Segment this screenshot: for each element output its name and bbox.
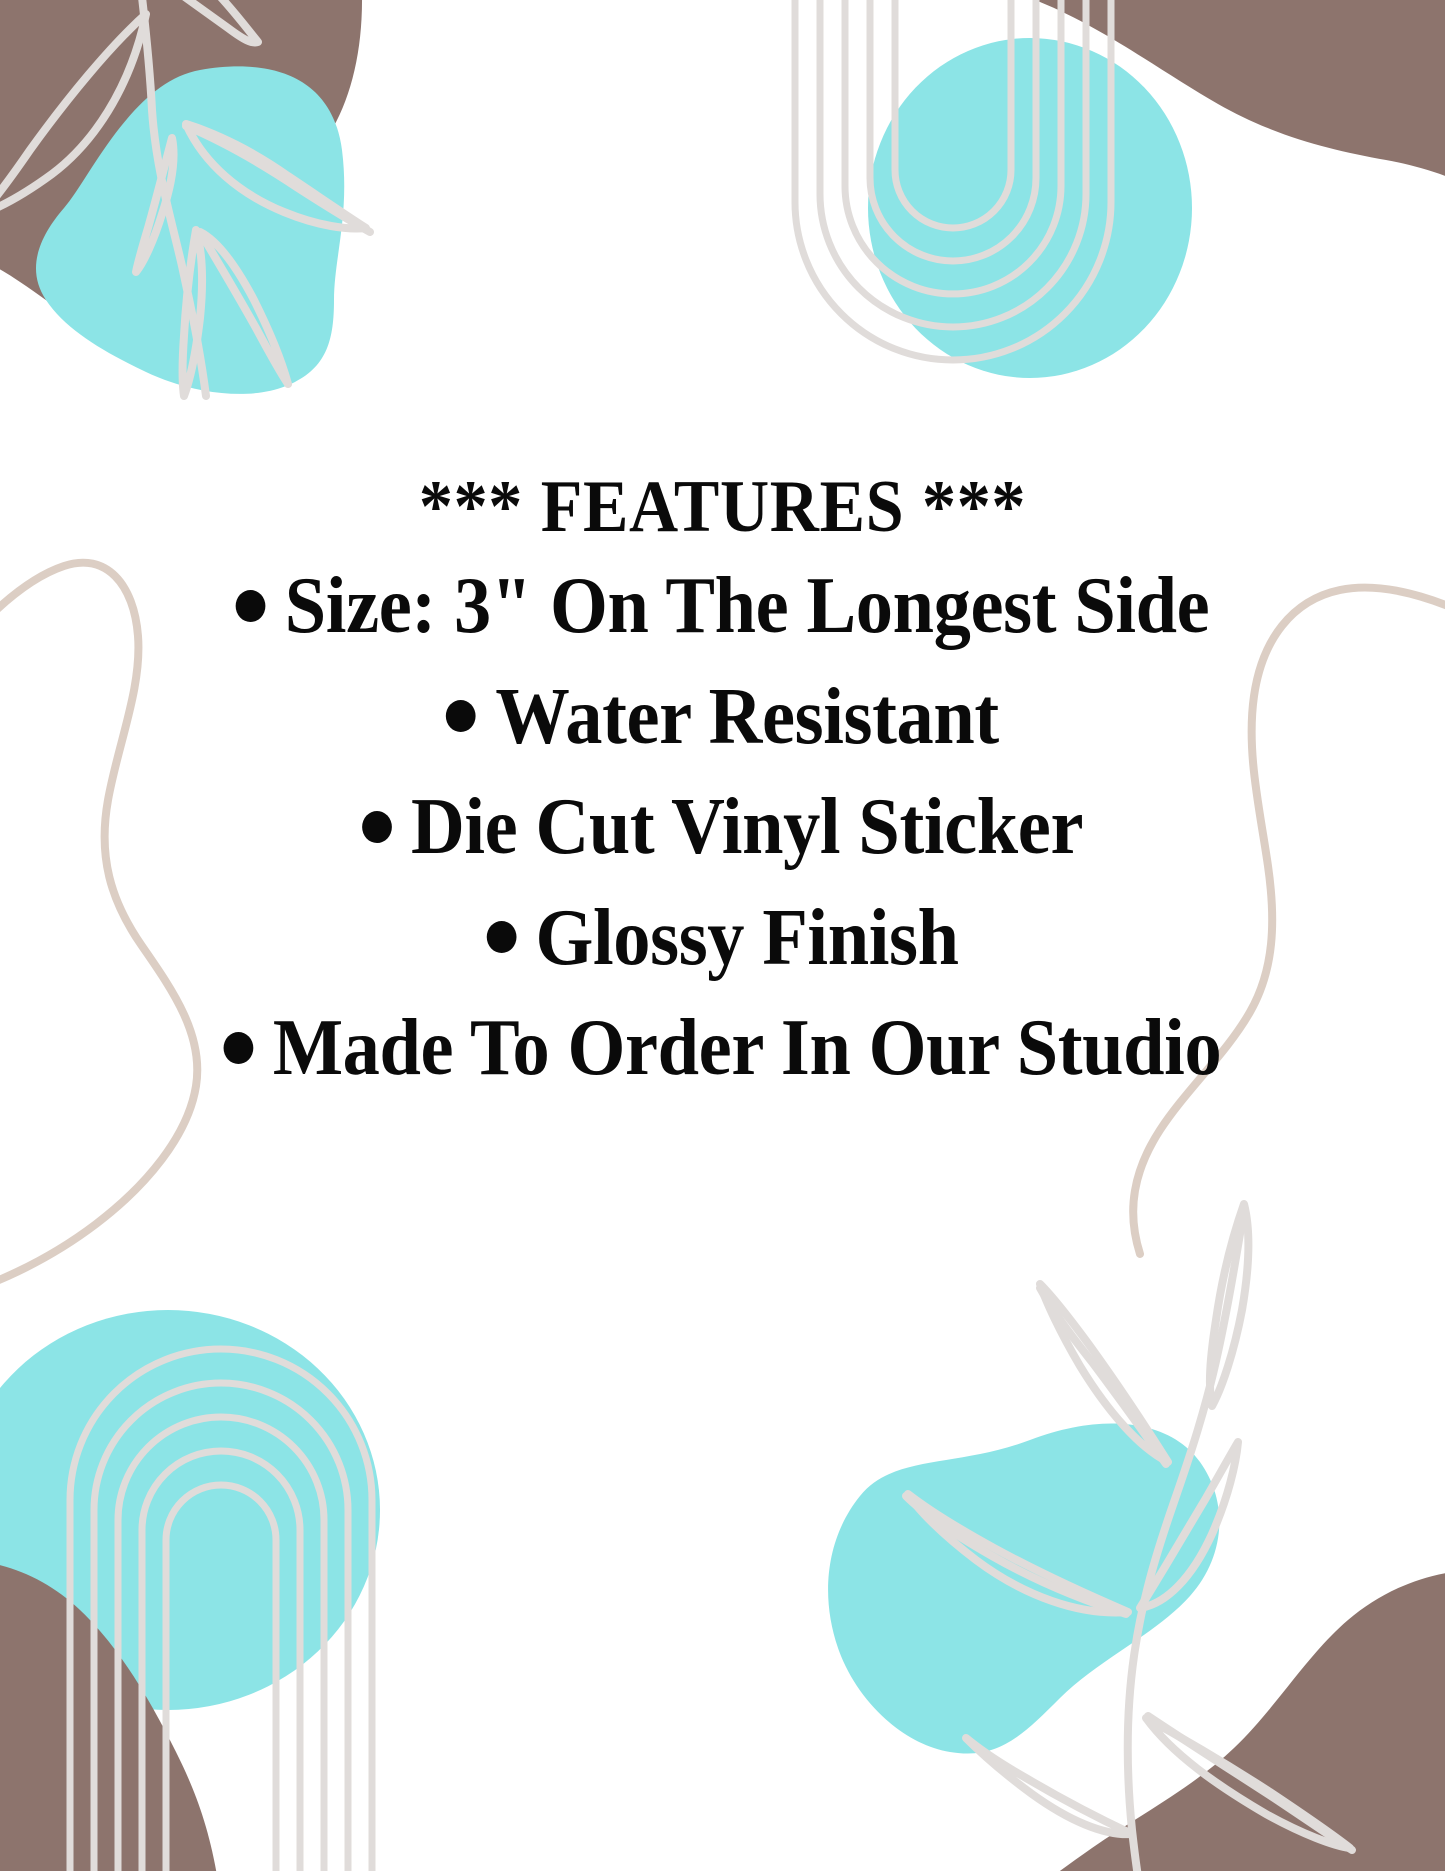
feature-item-water-resistant: Water Resistant — [51, 662, 1395, 772]
feature-item-glossy-finish: Glossy Finish — [51, 883, 1395, 993]
feature-item-label: Size: 3" On The Longest Side — [285, 562, 1209, 650]
features-block: *** FEATURES *** Size: 3" On The Longest… — [0, 470, 1445, 1103]
bullet-icon — [486, 921, 516, 953]
feature-item-label: Die Cut Vinyl Sticker — [411, 783, 1083, 871]
features-title: *** FEATURES *** — [58, 470, 1387, 545]
poster-content: *** FEATURES *** Size: 3" On The Longest… — [0, 0, 1445, 1871]
features-poster: *** FEATURES *** Size: 3" On The Longest… — [0, 0, 1445, 1871]
feature-item-made-to-order: Made To Order In Our Studio — [51, 993, 1395, 1103]
bullet-icon — [362, 811, 392, 843]
features-list: Size: 3" On The Longest Side Water Resis… — [0, 551, 1445, 1103]
bullet-icon — [236, 590, 266, 622]
feature-item-size: Size: 3" On The Longest Side — [51, 551, 1395, 661]
feature-item-label: Water Resistant — [495, 673, 998, 761]
feature-item-label: Glossy Finish — [535, 894, 958, 982]
bullet-icon — [224, 1032, 254, 1064]
feature-item-label: Made To Order In Our Studio — [273, 1004, 1221, 1092]
feature-item-die-cut: Die Cut Vinyl Sticker — [51, 772, 1395, 882]
bullet-icon — [446, 700, 476, 732]
